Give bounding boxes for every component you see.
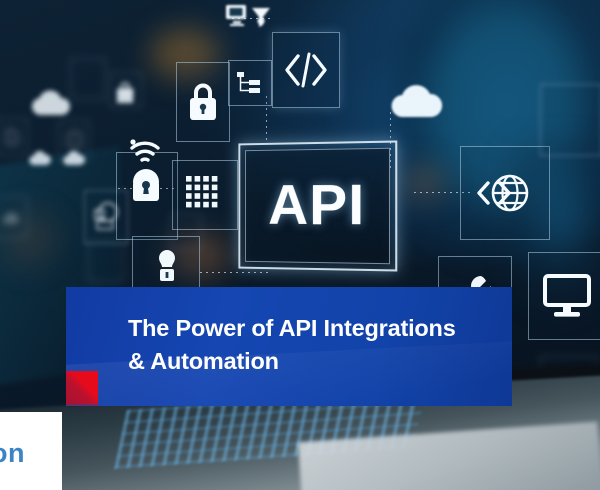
icon-card-grid — [172, 160, 238, 230]
tablet-icon — [68, 131, 81, 149]
padlock-icon — [186, 81, 220, 123]
keyhole-lock-icon — [130, 166, 162, 204]
wifi-icon — [128, 138, 162, 166]
document-icon — [5, 129, 19, 145]
desktop-icon — [541, 272, 593, 320]
logo-text: on — [0, 438, 25, 469]
cloud-icon — [388, 78, 446, 124]
api-panel-inner: API — [245, 148, 390, 264]
banner-title: The Power of API Integrations & Automati… — [128, 312, 488, 379]
cloud-icon — [28, 148, 52, 168]
bag-icon — [114, 80, 136, 106]
icon-card — [88, 240, 124, 282]
logo-box: on — [0, 412, 62, 490]
grid-matrix-icon — [185, 175, 225, 215]
api-panel: API — [238, 140, 397, 271]
bokeh-highlight — [402, 164, 446, 202]
icon-card — [0, 196, 28, 238]
funnel-icon — [250, 6, 272, 30]
icon-card-code — [272, 32, 340, 108]
red-accent-square — [66, 371, 98, 405]
hero-image: API The Power of API Integrations & Auto… — [0, 0, 600, 490]
api-label: API — [268, 176, 365, 234]
monitor-icon — [224, 2, 250, 28]
chart-icon — [2, 209, 18, 225]
sitemap-icon — [236, 70, 264, 96]
cloud-icon — [62, 148, 86, 168]
bulb-lock-icon — [152, 248, 182, 286]
cloud-icon — [28, 86, 74, 120]
icon-card-globe — [460, 146, 550, 240]
icon-card-security — [176, 62, 230, 142]
code-brackets-icon — [282, 52, 330, 88]
icon-card-sitemap — [228, 60, 272, 106]
globe-code-icon — [474, 167, 536, 219]
icon-card-identity — [84, 190, 128, 244]
title-banner: The Power of API Integrations & Automati… — [66, 287, 512, 406]
banner-title-line-1: The Power of API Integrations — [128, 312, 488, 345]
icon-card-desktop — [528, 252, 600, 340]
icon-card — [540, 84, 600, 156]
icon-card — [70, 58, 106, 100]
fingerprint-icon — [91, 200, 121, 234]
connector-line — [200, 272, 270, 273]
banner-title-line-2: & Automation — [128, 345, 488, 378]
icon-card — [0, 118, 28, 156]
